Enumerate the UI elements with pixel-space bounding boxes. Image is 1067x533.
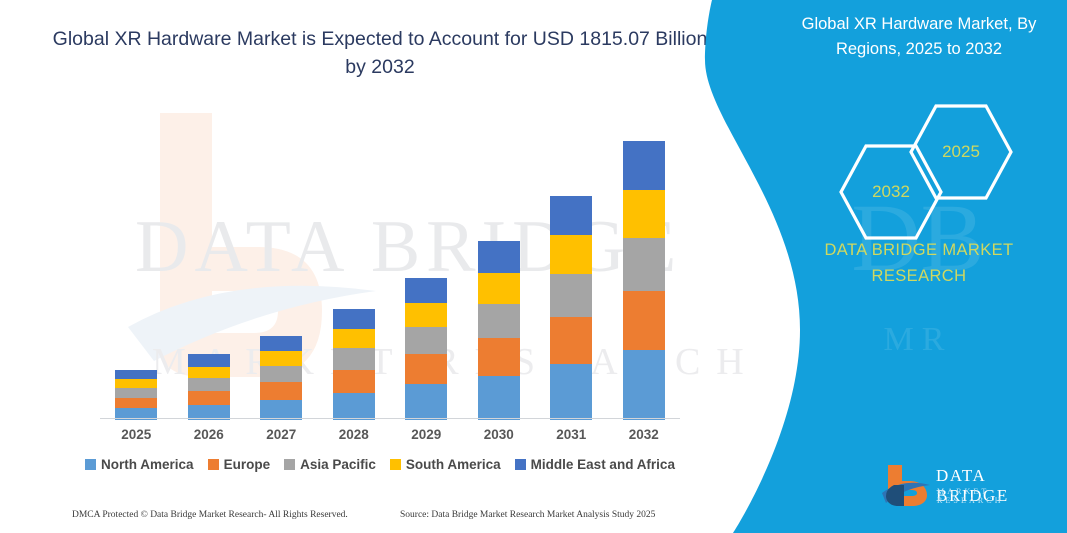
bar-segment	[478, 376, 520, 420]
x-tick-label: 2028	[320, 427, 388, 442]
bar-segment	[260, 351, 302, 366]
logo-name-sub: MARKET RESEARCH	[937, 487, 1050, 505]
bar-segment	[115, 388, 157, 398]
bar-segment	[623, 141, 665, 190]
bar-segment	[260, 336, 302, 351]
x-tick-label: 2026	[175, 427, 243, 442]
legend-swatch	[515, 459, 526, 470]
hexagon-2032: 2032	[836, 140, 946, 244]
bar-segment	[478, 338, 520, 376]
legend-item[interactable]: Middle East and Africa	[515, 457, 675, 472]
bar-segment	[550, 196, 592, 236]
company-logo: DATA BRIDGE MARKET RESEARCH	[880, 462, 1050, 508]
legend-label: Europe	[224, 457, 271, 472]
bar-segment	[260, 382, 302, 399]
x-tick-label: 2027	[247, 427, 315, 442]
bar-segment	[623, 350, 665, 420]
bar-segment	[623, 291, 665, 350]
legend-swatch	[208, 459, 219, 470]
legend-swatch	[284, 459, 295, 470]
bar-segment	[115, 379, 157, 388]
bar-segment	[550, 235, 592, 274]
bar-segment	[188, 378, 230, 391]
bar-segment	[405, 354, 447, 384]
bar-segment	[405, 327, 447, 354]
bar-segment	[333, 393, 375, 420]
chart-legend: North AmericaEuropeAsia PacificSouth Ame…	[0, 457, 760, 472]
bar-segment	[115, 398, 157, 409]
bar-segment	[478, 273, 520, 304]
hexagon-2032-label: 2032	[872, 182, 910, 202]
legend-item[interactable]: Asia Pacific	[284, 457, 376, 472]
bar-segment	[478, 241, 520, 273]
bar-segment	[188, 367, 230, 379]
bar-group	[320, 309, 388, 420]
x-tick-label: 2031	[537, 427, 605, 442]
stacked-bar-chart	[100, 130, 680, 420]
bar-segment	[188, 391, 230, 405]
bar-group	[465, 241, 533, 420]
side-panel-title: Global XR Hardware Market, By Regions, 2…	[778, 12, 1060, 62]
bar-segment	[623, 238, 665, 291]
legend-item[interactable]: Europe	[208, 457, 271, 472]
bar-segment	[260, 400, 302, 420]
bar-segment	[115, 370, 157, 380]
legend-label: North America	[101, 457, 194, 472]
legend-label: Middle East and Africa	[531, 457, 675, 472]
bar-group	[392, 278, 460, 420]
bar-group	[175, 354, 243, 420]
bar-segment	[333, 329, 375, 348]
brand-line-2: RESEARCH	[872, 267, 967, 285]
brand-line-1: DATA BRIDGE MARKET	[824, 241, 1013, 259]
x-tick-label: 2025	[102, 427, 170, 442]
footer-source: Source: Data Bridge Market Research Mark…	[400, 510, 655, 520]
x-axis-tick-labels: 20252026202720282029203020312032	[100, 427, 680, 447]
bar-segment	[260, 366, 302, 382]
bar-segment	[623, 190, 665, 238]
x-tick-label: 2032	[610, 427, 678, 442]
legend-item[interactable]: South America	[390, 457, 501, 472]
legend-swatch	[390, 459, 401, 470]
bar-segment	[550, 364, 592, 420]
legend-swatch	[85, 459, 96, 470]
bar-segment	[333, 370, 375, 393]
bar-segment	[478, 304, 520, 338]
svg-text:MR: MR	[884, 321, 953, 358]
bar-segment	[550, 317, 592, 364]
side-panel-content: DB MR Global XR Hardware Market, By Regi…	[770, 0, 1067, 533]
side-panel-brand: DATA BRIDGE MARKET RESEARCH	[780, 238, 1058, 289]
footer-copyright: DMCA Protected © Data Bridge Market Rese…	[72, 510, 348, 520]
bar-segment	[405, 278, 447, 303]
logo-mark-icon	[880, 463, 932, 507]
bar-segment	[333, 309, 375, 329]
page-title: Global XR Hardware Market is Expected to…	[40, 26, 720, 81]
legend-item[interactable]: North America	[85, 457, 194, 472]
x-axis-line	[100, 418, 680, 419]
chart-panel: DATA BRIDGE MARKET RESEARCH Global XR Ha…	[0, 0, 760, 533]
bar-segment	[405, 384, 447, 420]
x-tick-label: 2030	[465, 427, 533, 442]
bar-segment	[188, 354, 230, 367]
hexagon-2025-label: 2025	[942, 142, 980, 162]
bar-group	[102, 370, 170, 420]
bar-segment	[550, 274, 592, 317]
bar-group	[247, 336, 315, 420]
legend-label: Asia Pacific	[300, 457, 376, 472]
bar-group	[610, 141, 678, 420]
bar-segment	[333, 348, 375, 369]
bar-group	[537, 196, 605, 420]
bar-segment	[405, 303, 447, 327]
legend-label: South America	[406, 457, 501, 472]
x-tick-label: 2029	[392, 427, 460, 442]
